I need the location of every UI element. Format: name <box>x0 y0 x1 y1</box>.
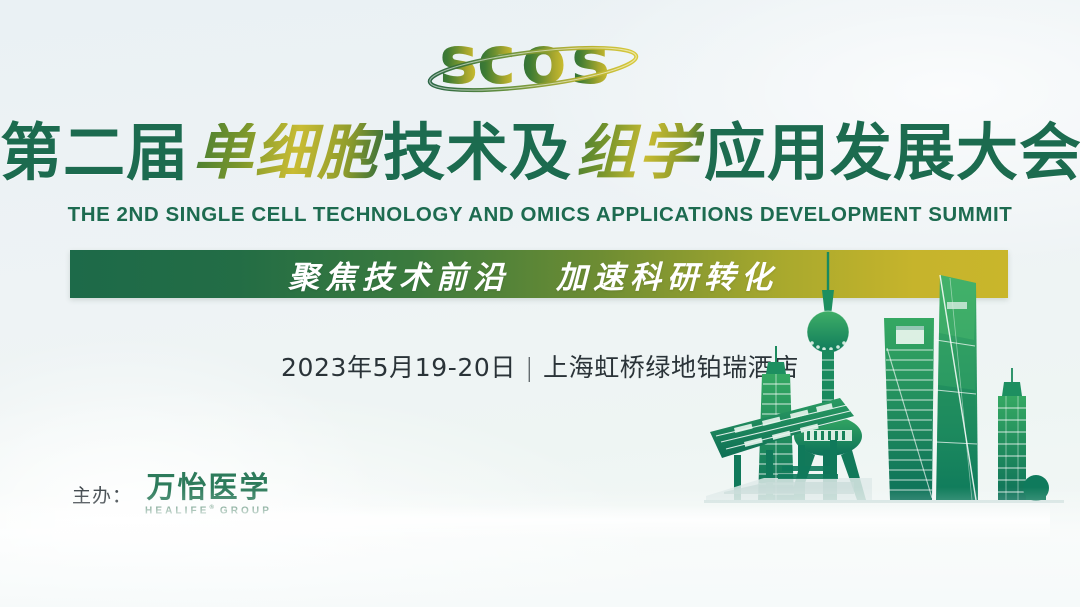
scos-logo: s c o s <box>0 24 1080 102</box>
heritage-tower <box>998 368 1049 501</box>
poster-title: 第二届单细胞技术及组学应用发展大会 <box>0 122 1080 184</box>
scos-logo-icon: s c o s <box>425 25 655 101</box>
title-segment-4: 组学 <box>572 123 704 183</box>
event-separator: | <box>516 353 543 382</box>
svg-text:s: s <box>571 25 609 99</box>
title-segment-5: 应用发展大会 <box>704 122 1080 184</box>
organizer-label: 主办： <box>72 481 132 508</box>
organizer-name-en-main: HEALIFE <box>145 506 209 517</box>
organizer-name-en: HEALIFE® GROUP <box>145 505 272 516</box>
title-segment-2: 单细胞 <box>189 123 383 183</box>
organizer-name-cn: 万怡医学 <box>146 472 270 502</box>
poster-subtitle-english: THE 2ND SINGLE CELL TECHNOLOGY AND OMICS… <box>0 203 1080 227</box>
shanghai-skyline-illustration <box>704 250 1064 555</box>
title-segment-1: 第二届 <box>0 122 189 184</box>
skyline-icon <box>704 250 1064 550</box>
organizer-name-en-suffix: GROUP <box>220 506 272 517</box>
shanghai-tower <box>936 275 978 500</box>
organizer-block: 主办： 万怡医学 HEALIFE® GROUP <box>72 472 272 517</box>
organizer-logo: 万怡医学 HEALIFE® GROUP <box>145 472 272 517</box>
conference-poster: s c o s 第二届单细胞技术及组学应用发展大会 THE 2ND SINGLE… <box>0 0 1080 607</box>
world-financial-center <box>884 318 934 500</box>
slogan-left: 聚焦技术前沿 <box>288 252 510 297</box>
title-segment-3: 技术及 <box>383 122 572 184</box>
registered-mark: ® <box>210 505 214 511</box>
event-date: 2023年5月19-20日 <box>281 353 516 382</box>
